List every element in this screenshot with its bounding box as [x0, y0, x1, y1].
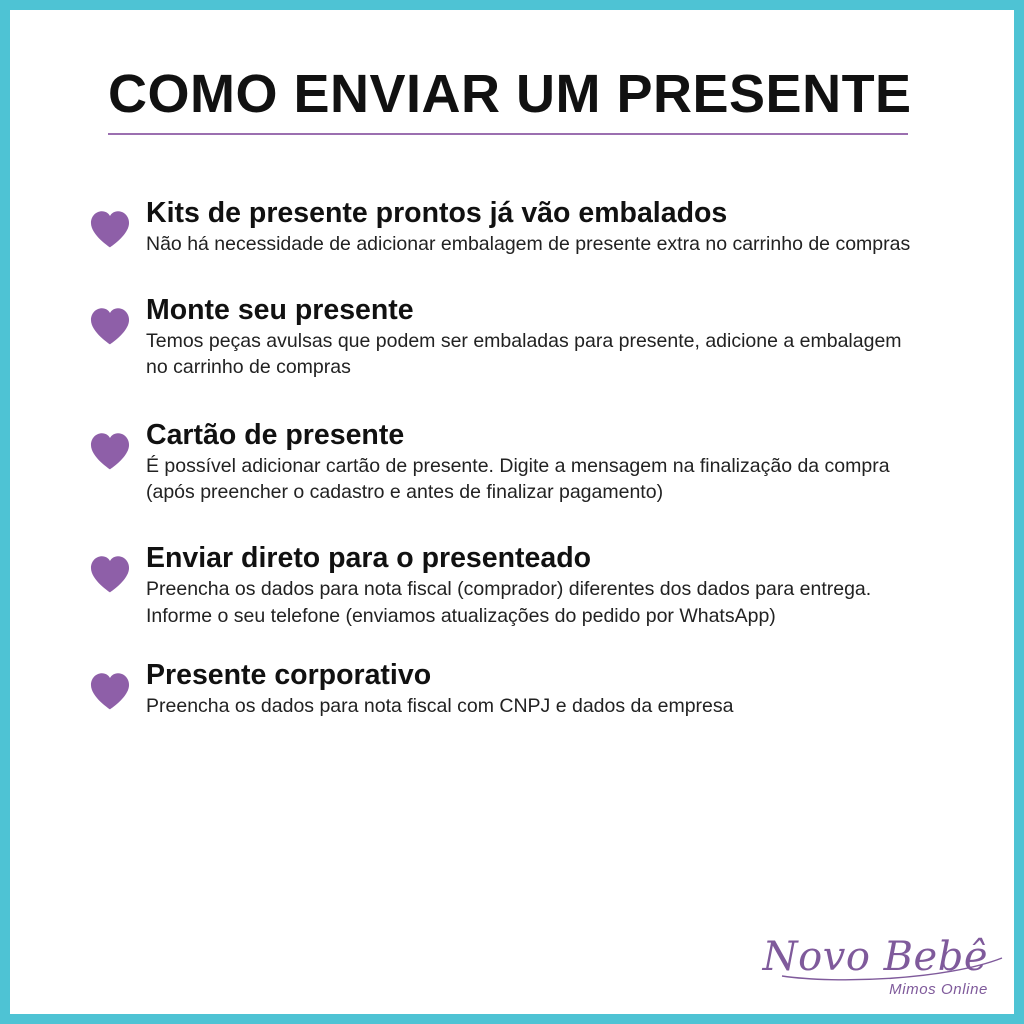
- benefits-list: Kits de presente prontos já vão embalado…: [74, 197, 962, 720]
- heart-icon-wrap: [74, 659, 146, 711]
- list-item-title: Kits de presente prontos já vão embalado…: [146, 197, 922, 230]
- brand-tagline: Mimos Online: [748, 981, 988, 998]
- list-item-title: Enviar direto para o presenteado: [146, 542, 922, 575]
- poster-frame: COMO ENVIAR UM PRESENTE Kits de presente…: [0, 0, 1024, 1024]
- list-item-title: Monte seu presente: [146, 294, 922, 327]
- list-item: Enviar direto para o presenteado Preench…: [74, 542, 962, 629]
- list-item-text: Monte seu presente Temos peças avulsas q…: [146, 294, 962, 381]
- heart-icon-wrap: [74, 197, 146, 249]
- list-item-text: Presente corporativo Preencha os dados p…: [146, 659, 962, 720]
- list-item-title: Cartão de presente: [146, 419, 922, 452]
- list-item-description: Preencha os dados para nota fiscal (comp…: [146, 576, 922, 628]
- list-item-description: Preencha os dados para nota fiscal com C…: [146, 693, 922, 719]
- list-item-description: É possível adicionar cartão de presente.…: [146, 453, 922, 505]
- heart-icon-wrap: [74, 542, 146, 594]
- title-underline: [108, 133, 908, 135]
- list-item: Monte seu presente Temos peças avulsas q…: [74, 294, 962, 381]
- list-item-description: Não há necessidade de adicionar embalage…: [146, 231, 922, 257]
- heart-icon-wrap: [74, 294, 146, 346]
- list-item-title: Presente corporativo: [146, 659, 922, 692]
- heart-icon: [89, 671, 131, 711]
- heart-icon: [89, 209, 131, 249]
- list-item-text: Kits de presente prontos já vão embalado…: [146, 197, 962, 258]
- list-item-text: Cartão de presente É possível adicionar …: [146, 419, 962, 506]
- heart-icon: [89, 554, 131, 594]
- list-item: Kits de presente prontos já vão embalado…: [74, 197, 962, 258]
- page-title: COMO ENVIAR UM PRESENTE: [108, 66, 908, 123]
- brand-logo: Novo Bebê Mimos Online: [748, 937, 988, 998]
- list-item-description: Temos peças avulsas que podem ser embala…: [146, 328, 922, 380]
- list-item: Presente corporativo Preencha os dados p…: [74, 659, 962, 720]
- title-block: COMO ENVIAR UM PRESENTE: [108, 66, 908, 135]
- list-item: Cartão de presente É possível adicionar …: [74, 419, 962, 506]
- heart-icon: [89, 306, 131, 346]
- list-item-text: Enviar direto para o presenteado Preench…: [146, 542, 962, 629]
- poster-content: COMO ENVIAR UM PRESENTE Kits de presente…: [10, 10, 1014, 1014]
- brand-name: Novo Bebê: [748, 937, 988, 977]
- heart-icon: [89, 431, 131, 471]
- heart-icon-wrap: [74, 419, 146, 471]
